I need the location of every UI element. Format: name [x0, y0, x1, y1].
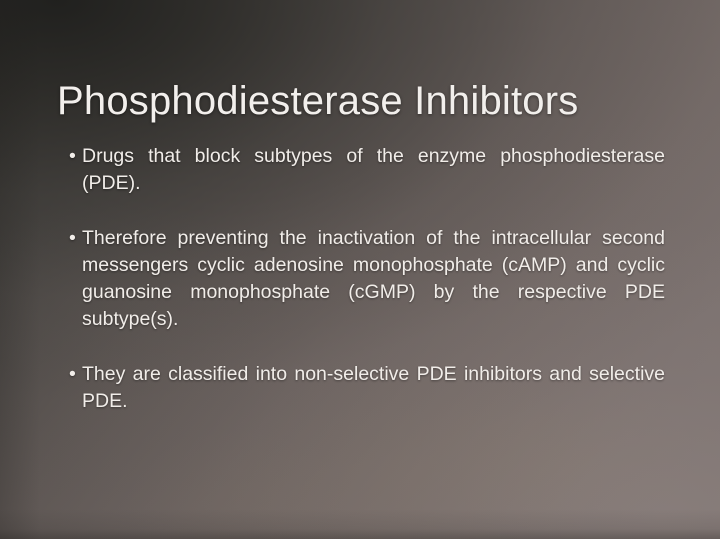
presentation-slide: Phosphodiesterase Inhibitors • Drugs tha…: [0, 0, 720, 539]
slide-body-content: • Drugs that block subtypes of the enzym…: [69, 143, 665, 415]
slide-title: Phosphodiesterase Inhibitors: [57, 79, 578, 124]
bullet-marker-icon: •: [69, 225, 76, 252]
bullet-item-mechanism: • Therefore preventing the inactivation …: [69, 225, 665, 333]
bullet-marker-icon: •: [69, 143, 76, 170]
bullet-item-classification: • They are classified into non-selective…: [69, 361, 665, 415]
bullet-item-definition: • Drugs that block subtypes of the enzym…: [69, 143, 665, 197]
bullet-text: Drugs that block subtypes of the enzyme …: [82, 143, 665, 197]
bullet-text: Therefore preventing the inactivation of…: [82, 225, 665, 333]
bullet-text: They are classified into non-selective P…: [82, 361, 665, 415]
bullet-marker-icon: •: [69, 361, 76, 388]
